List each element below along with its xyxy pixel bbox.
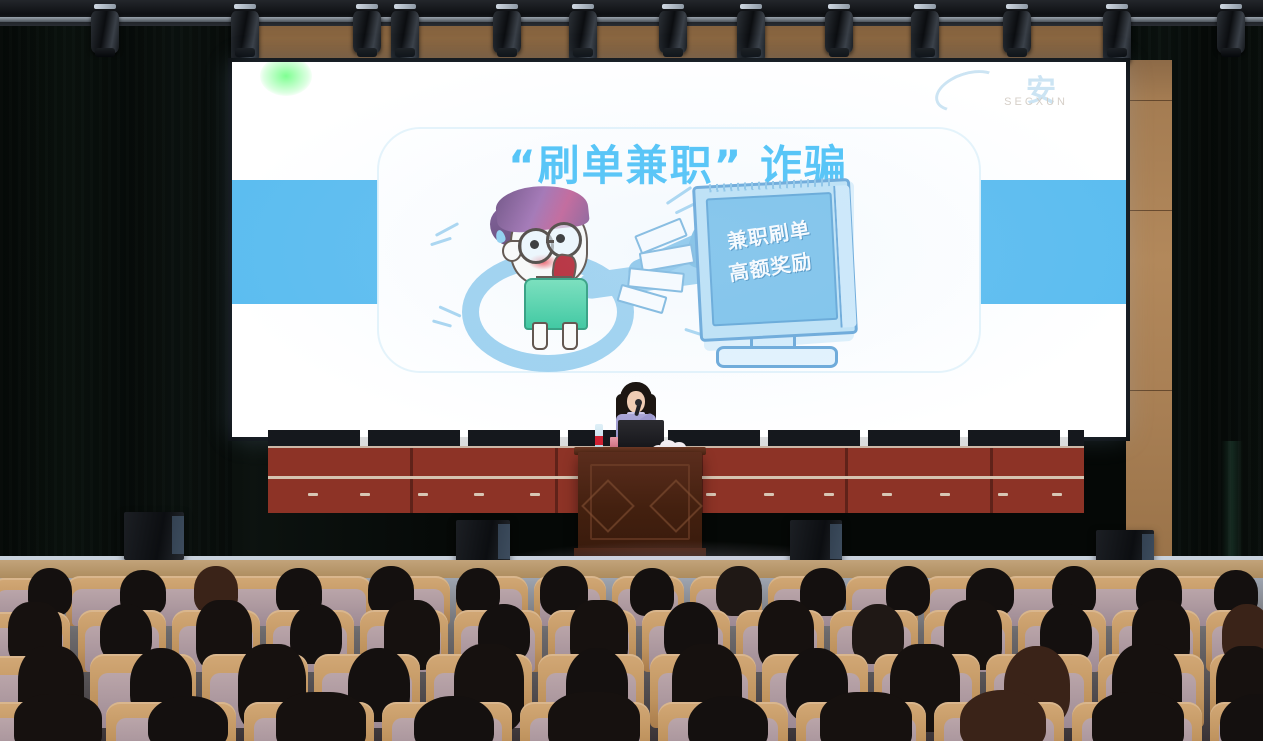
glasses-bridge [546,240,554,243]
stage-light-icon [1100,4,1134,60]
stage-light-icon [1000,4,1034,60]
slide-illustration: 兼职刷单 高额奖励 [428,182,908,372]
curtain-fold [1221,441,1243,561]
stage-monitor-speaker [124,512,184,560]
eye-right [556,234,565,243]
stage-monitor-speaker [456,520,510,564]
projection-screen: 安 SECXUN “刷单兼职” 诈骗 [232,62,1126,437]
lighting-truss [0,0,1263,26]
stage-light-icon [490,4,524,60]
stage-light-icon [88,4,122,60]
audience-area [0,560,1263,741]
swoosh-icon [930,62,1006,119]
watermark-logo: 安 SECXUN [938,66,1098,114]
stage-light-icon [388,4,422,60]
cartoon-victim [484,182,634,358]
stage-light-icon [822,4,856,60]
watermark-subtitle: SECXUN [1004,96,1068,108]
stage-light-icon [1214,4,1248,60]
microphone-head [635,399,642,406]
presentation-slide: 安 SECXUN “刷单兼职” 诈骗 [232,62,1126,437]
computer-monitor-icon: 兼职刷单 高额奖励 [692,178,858,342]
stage-light-icon [656,4,690,60]
stage-monitor-speaker [790,520,842,564]
truss-bar [0,17,1263,22]
wood-panel-wall [1126,60,1172,560]
stage-light-icon [908,4,942,60]
stage-light-icon [566,4,600,60]
auditorium-scene: 安 SECXUN “刷单兼职” 诈骗 [0,0,1263,741]
monitor-base [716,346,838,368]
leg [562,322,578,350]
stage-light-icon [228,4,262,60]
leg [532,322,548,350]
stage-light-icon [350,4,384,60]
stage-light-icon [734,4,768,60]
green-lens-flare [260,62,312,96]
eye-left [530,240,539,249]
stage-curtain-left [0,0,232,560]
